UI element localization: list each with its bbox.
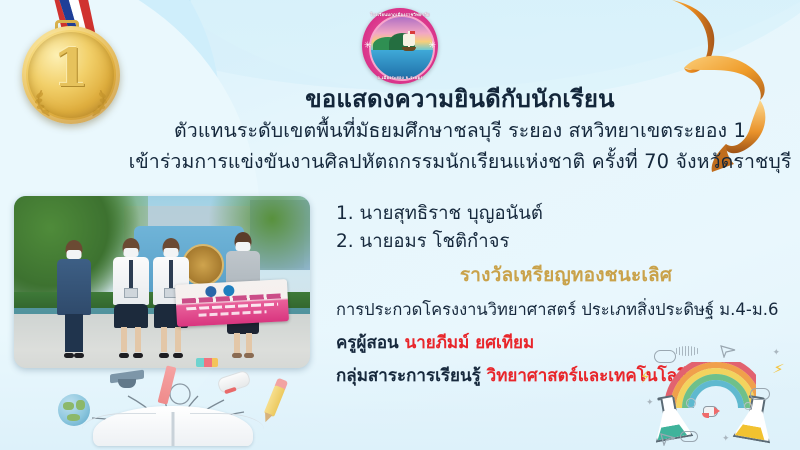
sparkle-icon: ✦ [772,348,780,358]
spring-doodle-icon [674,346,700,356]
photo-award-banner [175,279,289,327]
subtitle-line-1: ตัวแทนระดับเขตพื้นที่มัธยมศึกษาชลบุรี ระ… [120,117,800,145]
student-index: 2. [336,231,354,252]
logo-top-text: โรงเรียนมกุฎเมืองราชวิทยาลัย [362,11,438,18]
person-teacher-male [56,240,92,358]
paper-plane-icon [660,432,676,446]
bubble-icon [744,402,752,410]
flask-right-icon [733,395,774,442]
student-row: 2. นายอมร โชติกำจร [336,228,796,256]
student-row: 1. นายสุทธิราช บุญอนันต์ [336,200,796,228]
learning-group-label: กลุ่มสาระการเรียนรู้ [336,366,481,386]
heading-block: ขอแสดงความยินดีกับนักเรียน ตัวแทนระดับเข… [120,84,800,175]
bubble-icon [686,398,696,408]
rocket-icon [700,404,718,420]
graduation-cap-icon [110,372,144,390]
sparkle-icon: ✦ [722,434,730,444]
sparkle-icon: ✦ [646,398,654,408]
teacher-label: ครูผู้สอน [336,333,399,353]
student-name: นายอมร โชติกำจร [360,231,510,252]
page-title: ขอแสดงความยินดีกับนักเรียน [120,84,800,114]
congratulations-poster: 1 [0,0,800,450]
open-book-illustration [58,378,288,448]
lightning-bolt-icon: ⚡ [638,367,652,387]
logo-bottom-text: อ.เมืองระยอง จ.ระยอง [362,74,438,81]
competition-category: การประกวดโครงงานวิทยาศาสตร์ ประเภทสิ่งปร… [336,297,796,323]
cloud-icon [680,431,698,442]
medal-disc: 1 [22,26,120,124]
globe-icon [58,394,90,426]
school-logo-icon: โรงเรียนมกุฎเมืองราชวิทยาลัย อ.เมืองระยอ… [362,8,438,84]
group-photo [14,196,310,368]
cloud-icon [750,388,770,400]
logo-star-left: ✳ [364,41,372,51]
person-student-1 [112,238,150,358]
student-name: นายสุทธิราช บุญอนันต์ [360,203,543,224]
subtitle-line-2: เข้าร่วมการแข่งขันงานศิลปหัตถกรรมนักเรีย… [120,148,800,176]
teacher-name: นายภีมม์ ยศเทียม [405,333,535,353]
school-logo-scene [369,15,435,81]
logo-star-right: ✳ [428,41,436,51]
student-index: 1. [336,203,354,224]
science-illustration: ⚡ ⚡ ✦ ✦ ✦ [636,342,786,446]
paper-plane-icon [720,344,736,358]
sticky-notes-icon [196,358,218,367]
logo-ship-icon [401,31,417,53]
award-label: รางวัลเหรียญทองชนะเลิศ [336,260,796,290]
cloud-icon [654,350,676,363]
laurel-wreath-icon [22,86,120,120]
medal-number: 1 [22,38,120,99]
lightning-bolt-icon: ⚡ [772,359,786,379]
